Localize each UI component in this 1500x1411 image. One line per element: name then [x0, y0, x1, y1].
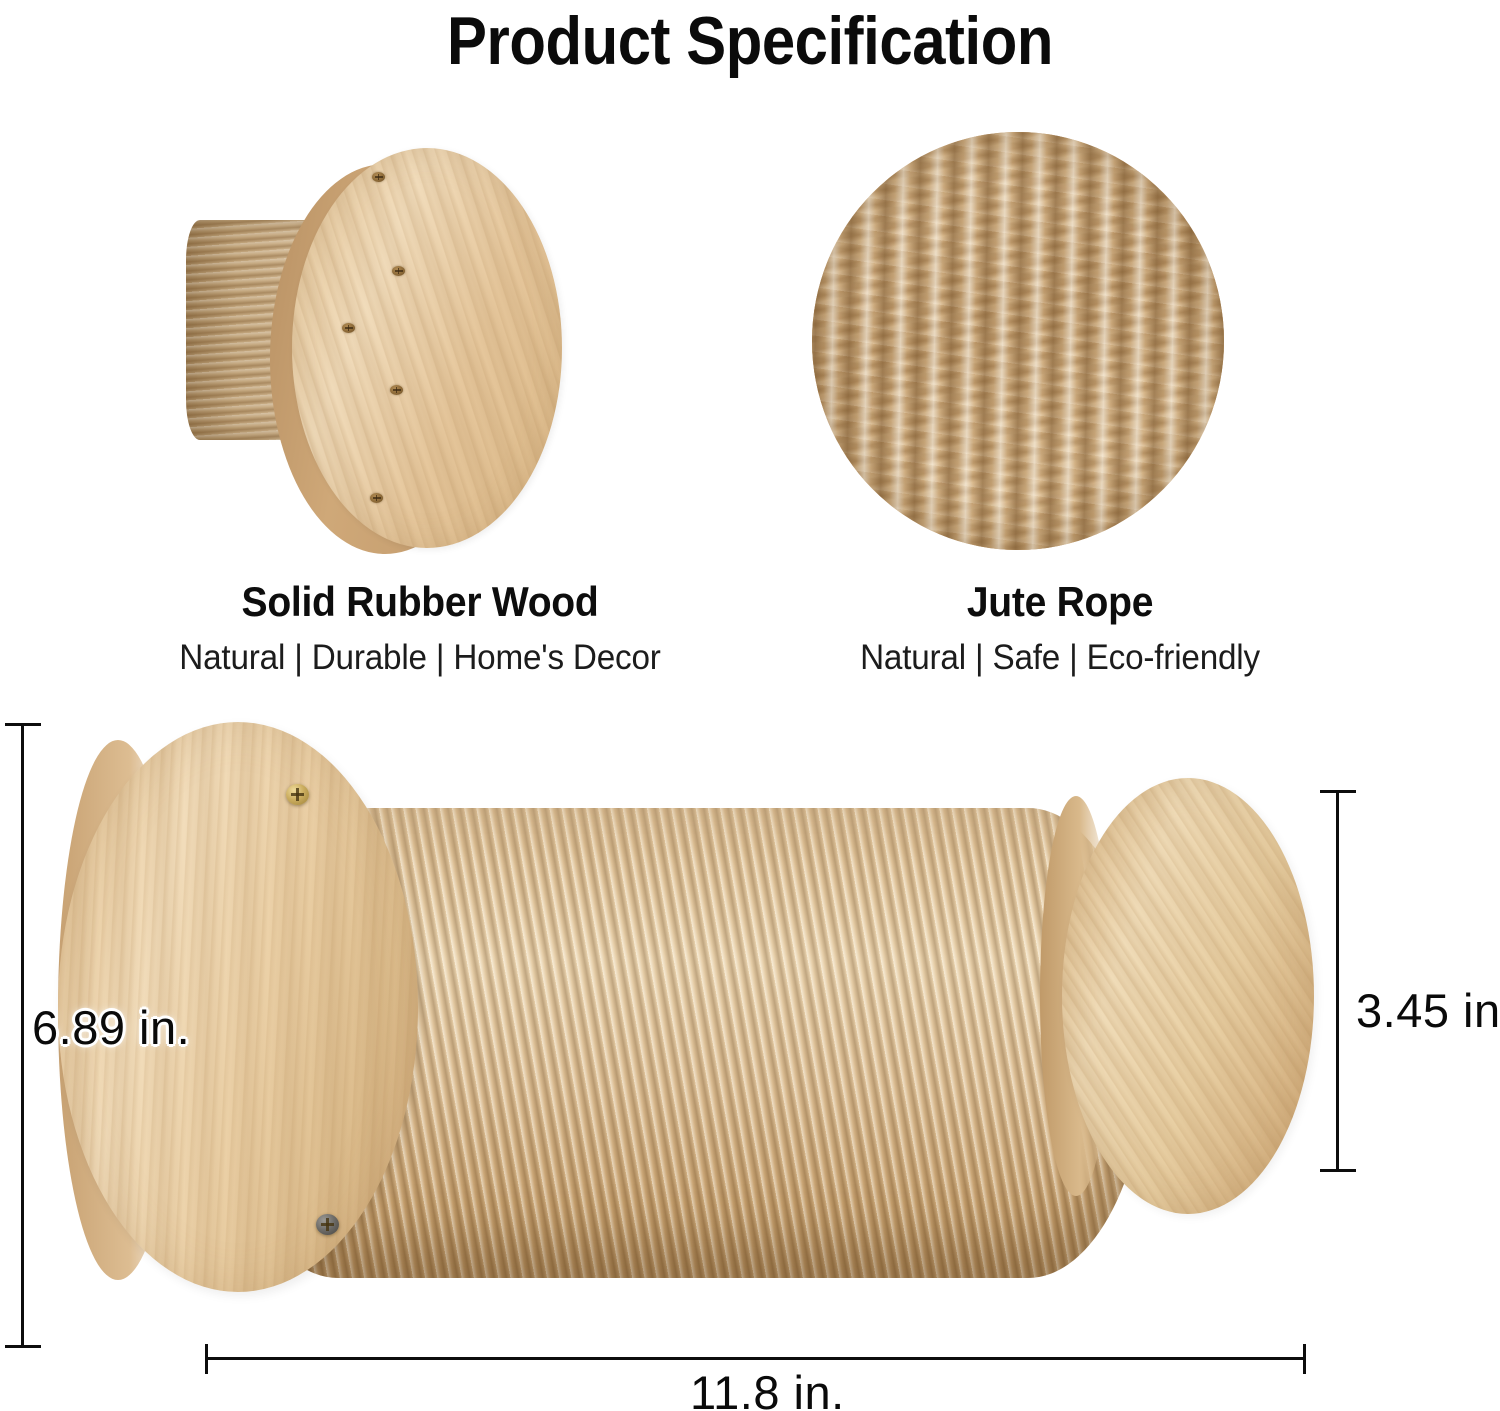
screw-icon: [392, 266, 405, 276]
feature-caption-wood: Solid Rubber Wood Natural | Durable | Ho…: [120, 578, 720, 678]
dimension-tick-length-left: [205, 1344, 208, 1374]
feature-title-rope: Jute Rope: [781, 578, 1339, 626]
dimension-tick-height-bottom: [5, 1345, 41, 1348]
dimension-label-length: 11.8 in.: [690, 1365, 845, 1411]
dimension-tick-diameter-top: [1320, 790, 1356, 793]
screw-icon: [370, 493, 383, 503]
dimension-tick-diameter-bottom: [1320, 1169, 1356, 1172]
dimension-line-height: [21, 723, 24, 1348]
screw-icon: [372, 172, 385, 182]
dimension-label-diameter: 3.45 in.: [1356, 983, 1500, 1038]
jute-rope-illustration: [760, 120, 1360, 560]
screw-icon: [342, 323, 355, 333]
rope-closeup-circle: [812, 132, 1224, 550]
dimension-line-length: [205, 1357, 1305, 1360]
dimension-tick-height-top: [5, 723, 41, 726]
dimension-line-diameter: [1336, 790, 1339, 1172]
product-specification-infographic: Product Specification Solid Rubber Wood …: [0, 0, 1500, 1411]
dimension-label-height: 6.89 in.: [32, 1000, 190, 1055]
screw-icon: [390, 385, 403, 395]
feature-subtitle-rope: Natural | Safe | Eco-friendly: [775, 638, 1345, 678]
feature-subtitle-wood: Natural | Durable | Home's Decor: [135, 638, 705, 678]
dimension-tick-length-right: [1303, 1344, 1306, 1374]
wood-disc-illustration: [120, 120, 720, 560]
wooden-end-cap: [1062, 778, 1314, 1214]
feature-card-solid-rubber-wood: Solid Rubber Wood Natural | Durable | Ho…: [120, 120, 720, 678]
feature-caption-rope: Jute Rope Natural | Safe | Eco-friendly: [760, 578, 1360, 678]
rope-vignette: [812, 132, 1224, 550]
feature-card-jute-rope: Jute Rope Natural | Safe | Eco-friendly: [760, 120, 1360, 678]
wood-disc-face: [292, 148, 562, 548]
product-dimension-diagram: [0, 700, 1500, 1411]
screw-icon: [316, 1214, 339, 1235]
feature-title-wood: Solid Rubber Wood: [141, 578, 699, 626]
page-title: Product Specification: [90, 2, 1410, 80]
screw-icon: [286, 784, 309, 805]
